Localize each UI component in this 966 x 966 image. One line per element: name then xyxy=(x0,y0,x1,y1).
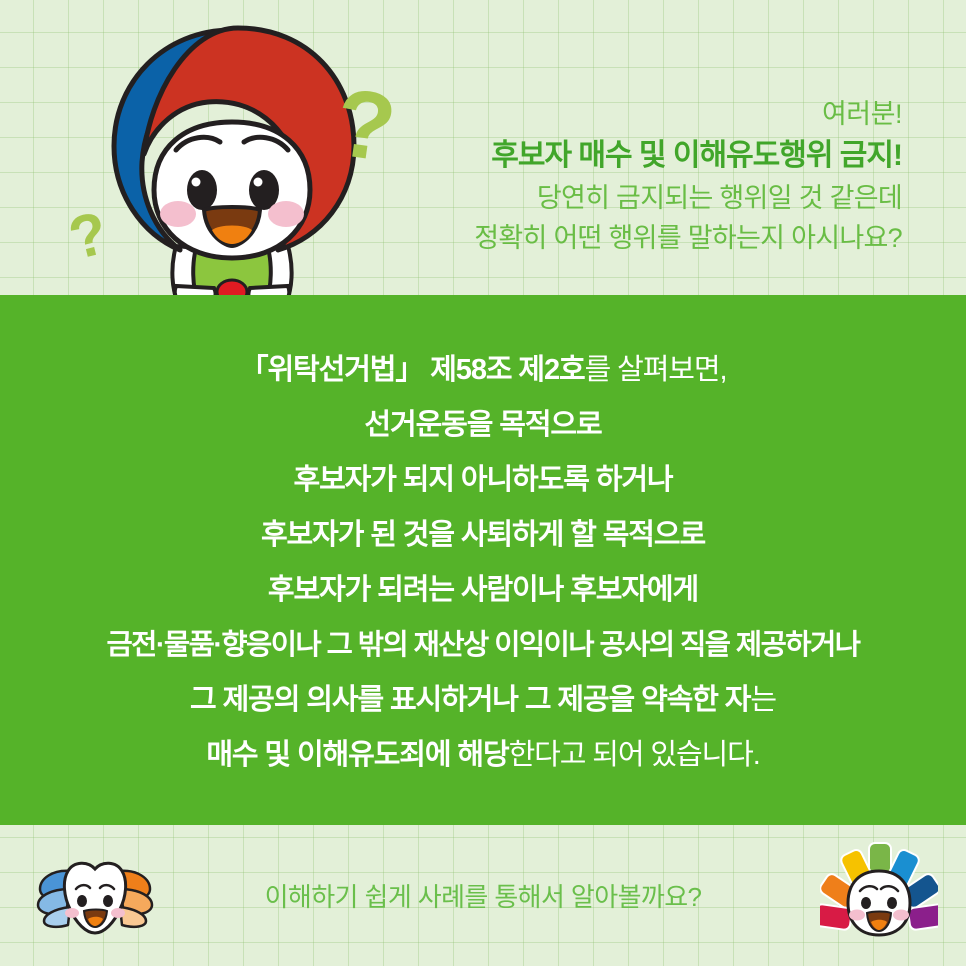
law-line: 후보자가 된 것을 사퇴하게 할 목적으로 xyxy=(261,521,705,550)
mascot-eye-left xyxy=(187,170,217,210)
law-line-bold: 그 제공의 의사를 표시하거나 그 제공을 약속한 자 xyxy=(190,684,750,716)
infographic-card: ? ? 여러분! 후보자 매수 및 이해유도행위 금지! 당연히 금지되는 행위… xyxy=(0,0,966,966)
mascot-cheek-right xyxy=(268,201,304,227)
law-line: 후보자가 되려는 사람이나 후보자에게 xyxy=(268,576,698,605)
header-line-1: 여러분! xyxy=(474,96,902,133)
law-line-bold: 금전·물품·향응이나 그 밖의 재산상 이익이나 공사의 직을 제공하거나 xyxy=(106,629,859,661)
law-line-bold: 후보자가 된 것을 사퇴하게 할 목적으로 xyxy=(261,519,705,551)
footer-section: 이해하기 쉽게 사례를 통해서 알아볼까요? xyxy=(0,825,966,966)
mascot-cheek-left xyxy=(160,201,196,227)
footer-text: 이해하기 쉽게 사례를 통해서 알아볼까요? xyxy=(265,877,702,914)
law-line-bold: 선거운동을 목적으로 xyxy=(364,409,601,441)
law-line: 금전·물품·향응이나 그 밖의 재산상 이익이나 공사의 직을 제공하거나 xyxy=(106,631,859,660)
law-line-bold: 후보자가 되려는 사람이나 후보자에게 xyxy=(268,574,698,606)
question-mark-icon-large: ? xyxy=(330,74,401,177)
law-line-bold: 「위탁선거법」 제58조 제2호 xyxy=(240,354,585,386)
header-line-4: 정확히 어떤 행위를 말하는지 아시나요? xyxy=(474,220,902,257)
law-line: 선거운동을 목적으로 xyxy=(364,411,601,440)
header-line-3: 당연히 금지되는 행위일 것 같은데 xyxy=(474,180,902,217)
header-line-2-title: 후보자 매수 및 이해유도행위 금지! xyxy=(474,135,902,176)
law-line-regular: 를 살펴보면, xyxy=(585,354,727,386)
law-line-bold: 매수 및 이해유도죄에 해당 xyxy=(206,739,508,771)
law-line: 그 제공의 의사를 표시하거나 그 제공을 약속한 자는 xyxy=(190,686,776,715)
law-line-bold: 후보자가 되지 아니하도록 하거나 xyxy=(294,464,673,496)
law-line: 매수 및 이해유도죄에 해당한다고 되어 있습니다. xyxy=(206,741,759,770)
law-text-lines: 「위탁선거법」 제58조 제2호를 살펴보면, 선거운동을 목적으로 후보자가 … xyxy=(0,295,966,825)
law-text-band: 「위탁선거법」 제58조 제2호를 살펴보면, 선거운동을 목적으로 후보자가 … xyxy=(0,295,966,825)
law-line-regular: 는 xyxy=(750,684,776,716)
law-line: 후보자가 되지 아니하도록 하거나 xyxy=(294,466,673,495)
header-text-block: 여러분! 후보자 매수 및 이해유도행위 금지! 당연히 금지되는 행위일 것 … xyxy=(474,96,902,257)
mascot-character-logo xyxy=(820,841,938,953)
law-line-regular: 한다고 되어 있습니다. xyxy=(509,739,760,771)
header-section: ? ? 여러분! 후보자 매수 및 이해유도행위 금지! 당연히 금지되는 행위… xyxy=(0,0,966,295)
law-line: 「위탁선거법」 제58조 제2호를 살펴보면, xyxy=(240,356,727,385)
